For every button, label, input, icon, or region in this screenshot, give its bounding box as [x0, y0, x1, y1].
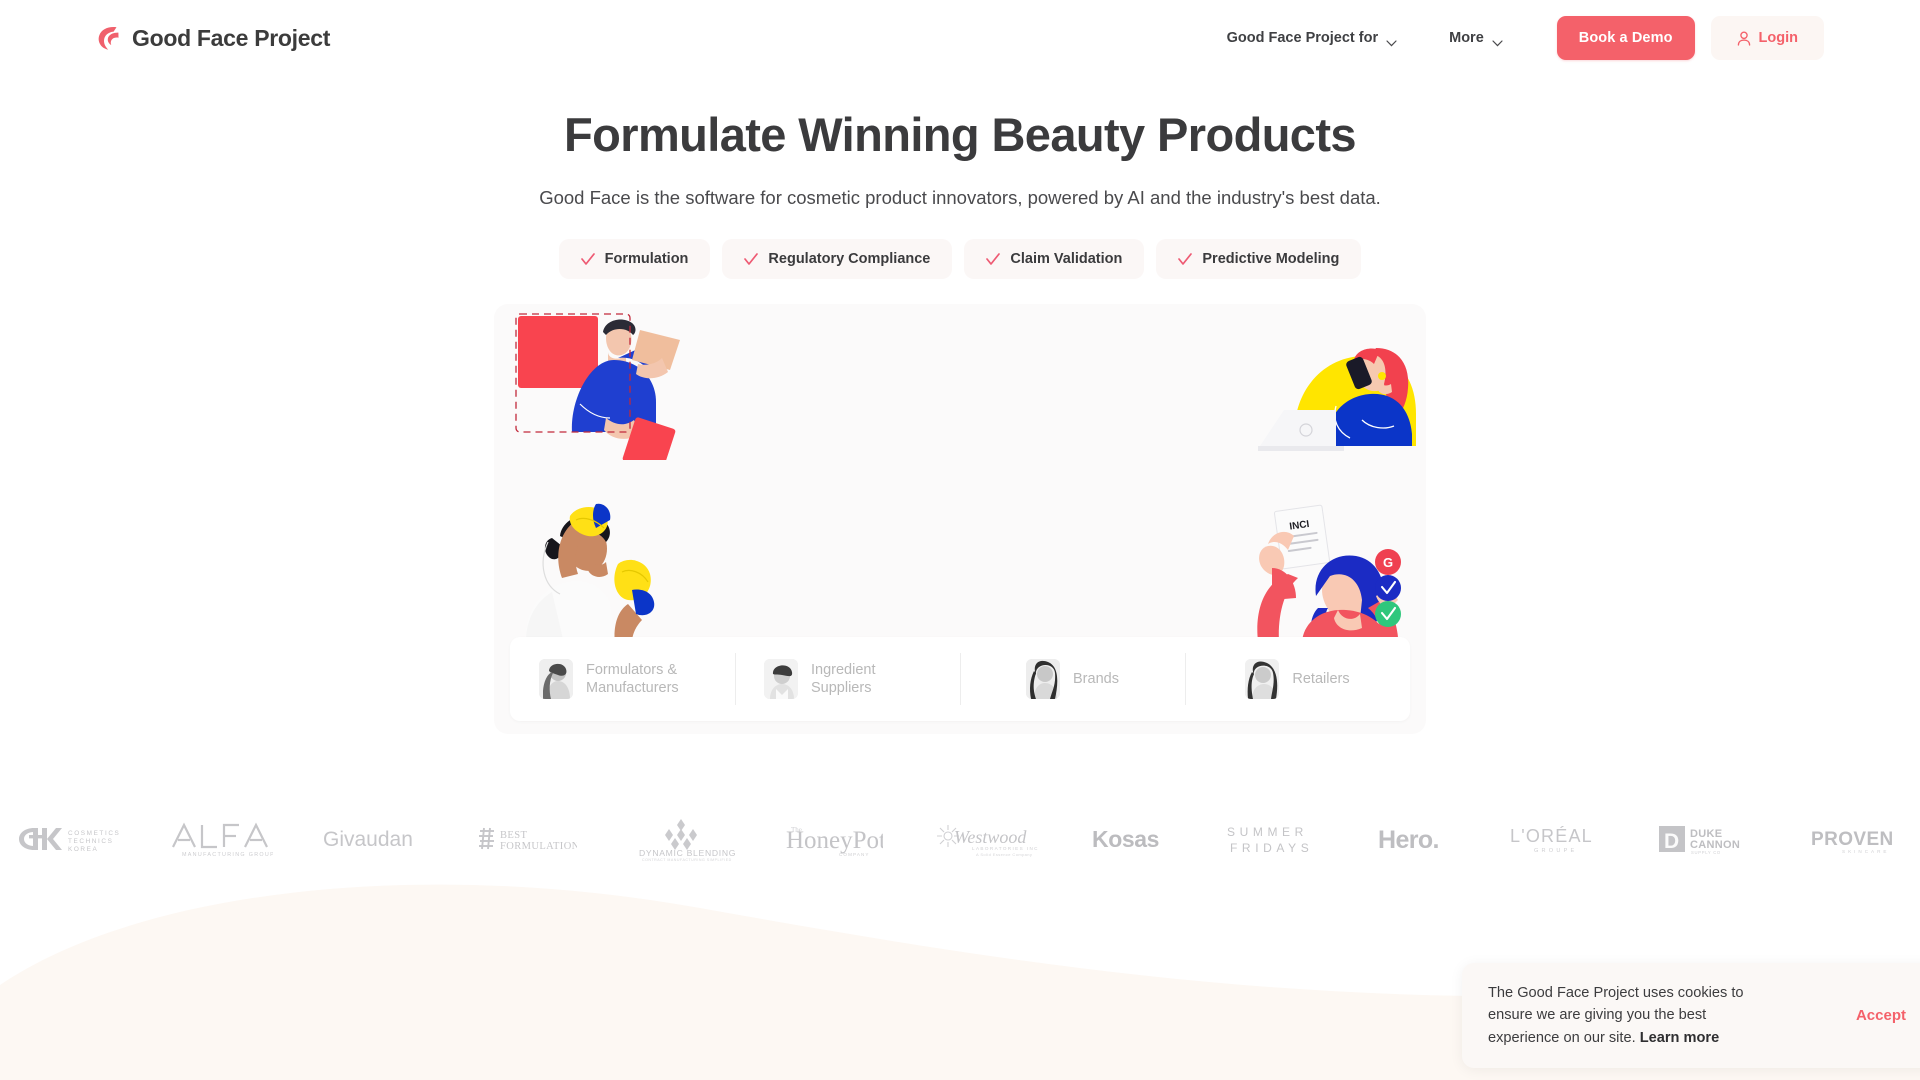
- brand-name: Good Face Project: [132, 25, 330, 52]
- persona-tab-brands[interactable]: Brands: [960, 637, 1185, 721]
- logo-kosas: Kosas: [1091, 825, 1175, 853]
- svg-text:CONTRACT MANUFACTURING SIMPLIF: CONTRACT MANUFACTURING SIMPLIFIED: [642, 858, 732, 862]
- persona-tab-formulators-manufacturers[interactable]: Formulators & Manufacturers: [510, 637, 735, 721]
- persona-tab-label: Brands: [1073, 670, 1119, 688]
- svg-text:SKINCARE: SKINCARE: [1842, 849, 1890, 854]
- logo-best-formulations: BEST FORMULATIONS: [475, 824, 577, 854]
- check-icon: [1178, 253, 1192, 266]
- hero-subtitle: Good Face is the software for cosmetic p…: [0, 184, 1920, 212]
- woman-on-phone-with-laptop-illustration: [1258, 344, 1418, 454]
- nav-label: More: [1449, 30, 1484, 46]
- svg-text:HoneyPot: HoneyPot: [786, 827, 883, 854]
- svg-text:LABORATORIES INC: LABORATORIES INC: [972, 846, 1039, 851]
- persona-tab-label: Formulators & Manufacturers: [586, 661, 706, 697]
- svg-text:FRIDAYS: FRIDAYS: [1230, 841, 1313, 855]
- feature-pill-claim-validation[interactable]: Claim Validation: [964, 239, 1144, 279]
- cookie-learn-more-link[interactable]: Learn more: [1640, 1030, 1719, 1046]
- logo-westwood: Westwood LABORATORIES INC A Solid Essenc…: [932, 821, 1042, 857]
- logo-loreal: L'ORÉAL GROUPE: [1508, 822, 1608, 856]
- cookie-message: The Good Face Project uses cookies to en…: [1488, 982, 1750, 1049]
- svg-text:GROUPE: GROUPE: [1534, 848, 1577, 854]
- logo-honeypot: The HoneyPot COMPANY: [785, 820, 883, 858]
- logo-dynamic-blending: DYNAMIC BLENDING CONTRACT MANUFACTURING …: [626, 816, 736, 862]
- brand-logo[interactable]: Good Face Project: [96, 25, 330, 52]
- svg-text:Kosas: Kosas: [1092, 826, 1159, 852]
- check-icon: [581, 253, 595, 266]
- nav-item-more[interactable]: More: [1437, 30, 1515, 46]
- svg-text:DYNAMIC BLENDING: DYNAMIC BLENDING: [639, 848, 736, 858]
- svg-text:SUMMER: SUMMER: [1227, 825, 1308, 839]
- logo-alfa: MANUFACTURING GROUP: [169, 819, 273, 859]
- feature-pill-predictive-modeling[interactable]: Predictive Modeling: [1156, 239, 1361, 279]
- lab-scientist-gloves-illustration: [508, 502, 678, 652]
- feature-pill-formulation[interactable]: Formulation: [559, 239, 711, 279]
- logo-ctk: COSMETICS TECHNICS KOREA: [14, 821, 120, 857]
- logo-duke-cannon: D DUKE CANNON SUPPLY CO: [1657, 822, 1761, 856]
- login-label: Login: [1759, 30, 1798, 46]
- book-a-demo-button[interactable]: Book a Demo: [1557, 16, 1695, 60]
- feature-pill-label: Regulatory Compliance: [768, 251, 930, 267]
- persona-tab-label: Retailers: [1292, 670, 1349, 688]
- site-header: Good Face Project Good Face Project for …: [0, 0, 1920, 76]
- main-navigation: Good Face Project for More Book a Demo: [1215, 0, 1920, 76]
- man-reviewing-formula-illustration: [510, 310, 710, 460]
- persona-tab-ingredient-suppliers[interactable]: Ingredient Suppliers: [735, 637, 960, 721]
- svg-text:G: G: [1383, 555, 1393, 570]
- svg-text:MANUFACTURING GROUP: MANUFACTURING GROUP: [182, 852, 273, 858]
- feature-pill-label: Formulation: [605, 251, 689, 267]
- svg-text:Hero.: Hero.: [1378, 826, 1439, 854]
- nav-item-good-face-project-for[interactable]: Good Face Project for: [1215, 30, 1409, 46]
- feature-pill-regulatory-compliance[interactable]: Regulatory Compliance: [722, 239, 952, 279]
- chevron-down-icon: [1386, 35, 1397, 42]
- feature-pill-list: Formulation Regulatory Compliance Claim …: [0, 239, 1920, 279]
- svg-text:L'ORÉAL: L'ORÉAL: [1510, 826, 1593, 846]
- persona-avatar-suppliers: [764, 659, 798, 699]
- svg-text:FORMULATIONS: FORMULATIONS: [500, 841, 577, 852]
- svg-text:KOREA: KOREA: [68, 846, 98, 853]
- svg-text:SUPPLY CO: SUPPLY CO: [1691, 850, 1721, 855]
- good-face-g-logo-icon: [96, 25, 122, 52]
- check-icon: [986, 253, 1000, 266]
- persona-tab-list: Formulators & Manufacturers Ingredient S…: [510, 637, 1410, 721]
- user-icon: [1737, 31, 1751, 46]
- cookie-consent-banner: The Good Face Project uses cookies to en…: [1462, 963, 1920, 1068]
- svg-text:Westwood: Westwood: [954, 827, 1027, 847]
- logo-givaudan: Givaudan: [322, 825, 426, 853]
- logo-proven: PROVEN SKINCARE: [1810, 823, 1906, 855]
- svg-text:PROVEN: PROVEN: [1811, 829, 1894, 850]
- svg-text:COMPANY: COMPANY: [839, 852, 870, 857]
- svg-text:Givaudan: Givaudan: [323, 828, 413, 851]
- logo-hero: Hero.: [1377, 824, 1459, 854]
- cookie-accept-button[interactable]: Accept: [1836, 997, 1920, 1034]
- hero-illustration-panel: INCI G: [494, 304, 1426, 734]
- persona-avatar-retailers: [1245, 659, 1279, 699]
- login-button[interactable]: Login: [1711, 16, 1824, 60]
- persona-avatar-formulators: [539, 659, 573, 699]
- page-root: Good Face Project Good Face Project for …: [0, 0, 1920, 1080]
- svg-text:COSMETICS: COSMETICS: [68, 830, 120, 837]
- svg-text:A Solid Essence Company: A Solid Essence Company: [976, 852, 1032, 857]
- persona-tab-retailers[interactable]: Retailers: [1185, 637, 1410, 721]
- svg-text:BEST: BEST: [500, 830, 527, 841]
- chevron-down-icon: [1492, 35, 1503, 42]
- logo-summer-fridays: SUMMER FRIDAYS: [1224, 821, 1328, 857]
- customer-logo-strip: COSMETICS TECHNICS KOREA MANUFACTURING G…: [0, 800, 1920, 878]
- page-title: Formulate Winning Beauty Products: [0, 108, 1920, 162]
- nav-label: Good Face Project for: [1227, 30, 1378, 46]
- svg-text:D: D: [1664, 830, 1679, 853]
- feature-pill-label: Claim Validation: [1010, 251, 1122, 267]
- feature-pill-label: Predictive Modeling: [1202, 251, 1339, 267]
- woman-holding-inci-label-illustration: INCI G: [1242, 504, 1417, 654]
- persona-tab-label: Ingredient Suppliers: [811, 661, 931, 697]
- persona-avatar-brands: [1026, 659, 1060, 699]
- svg-text:TECHNICS: TECHNICS: [68, 838, 113, 845]
- check-icon: [744, 253, 758, 266]
